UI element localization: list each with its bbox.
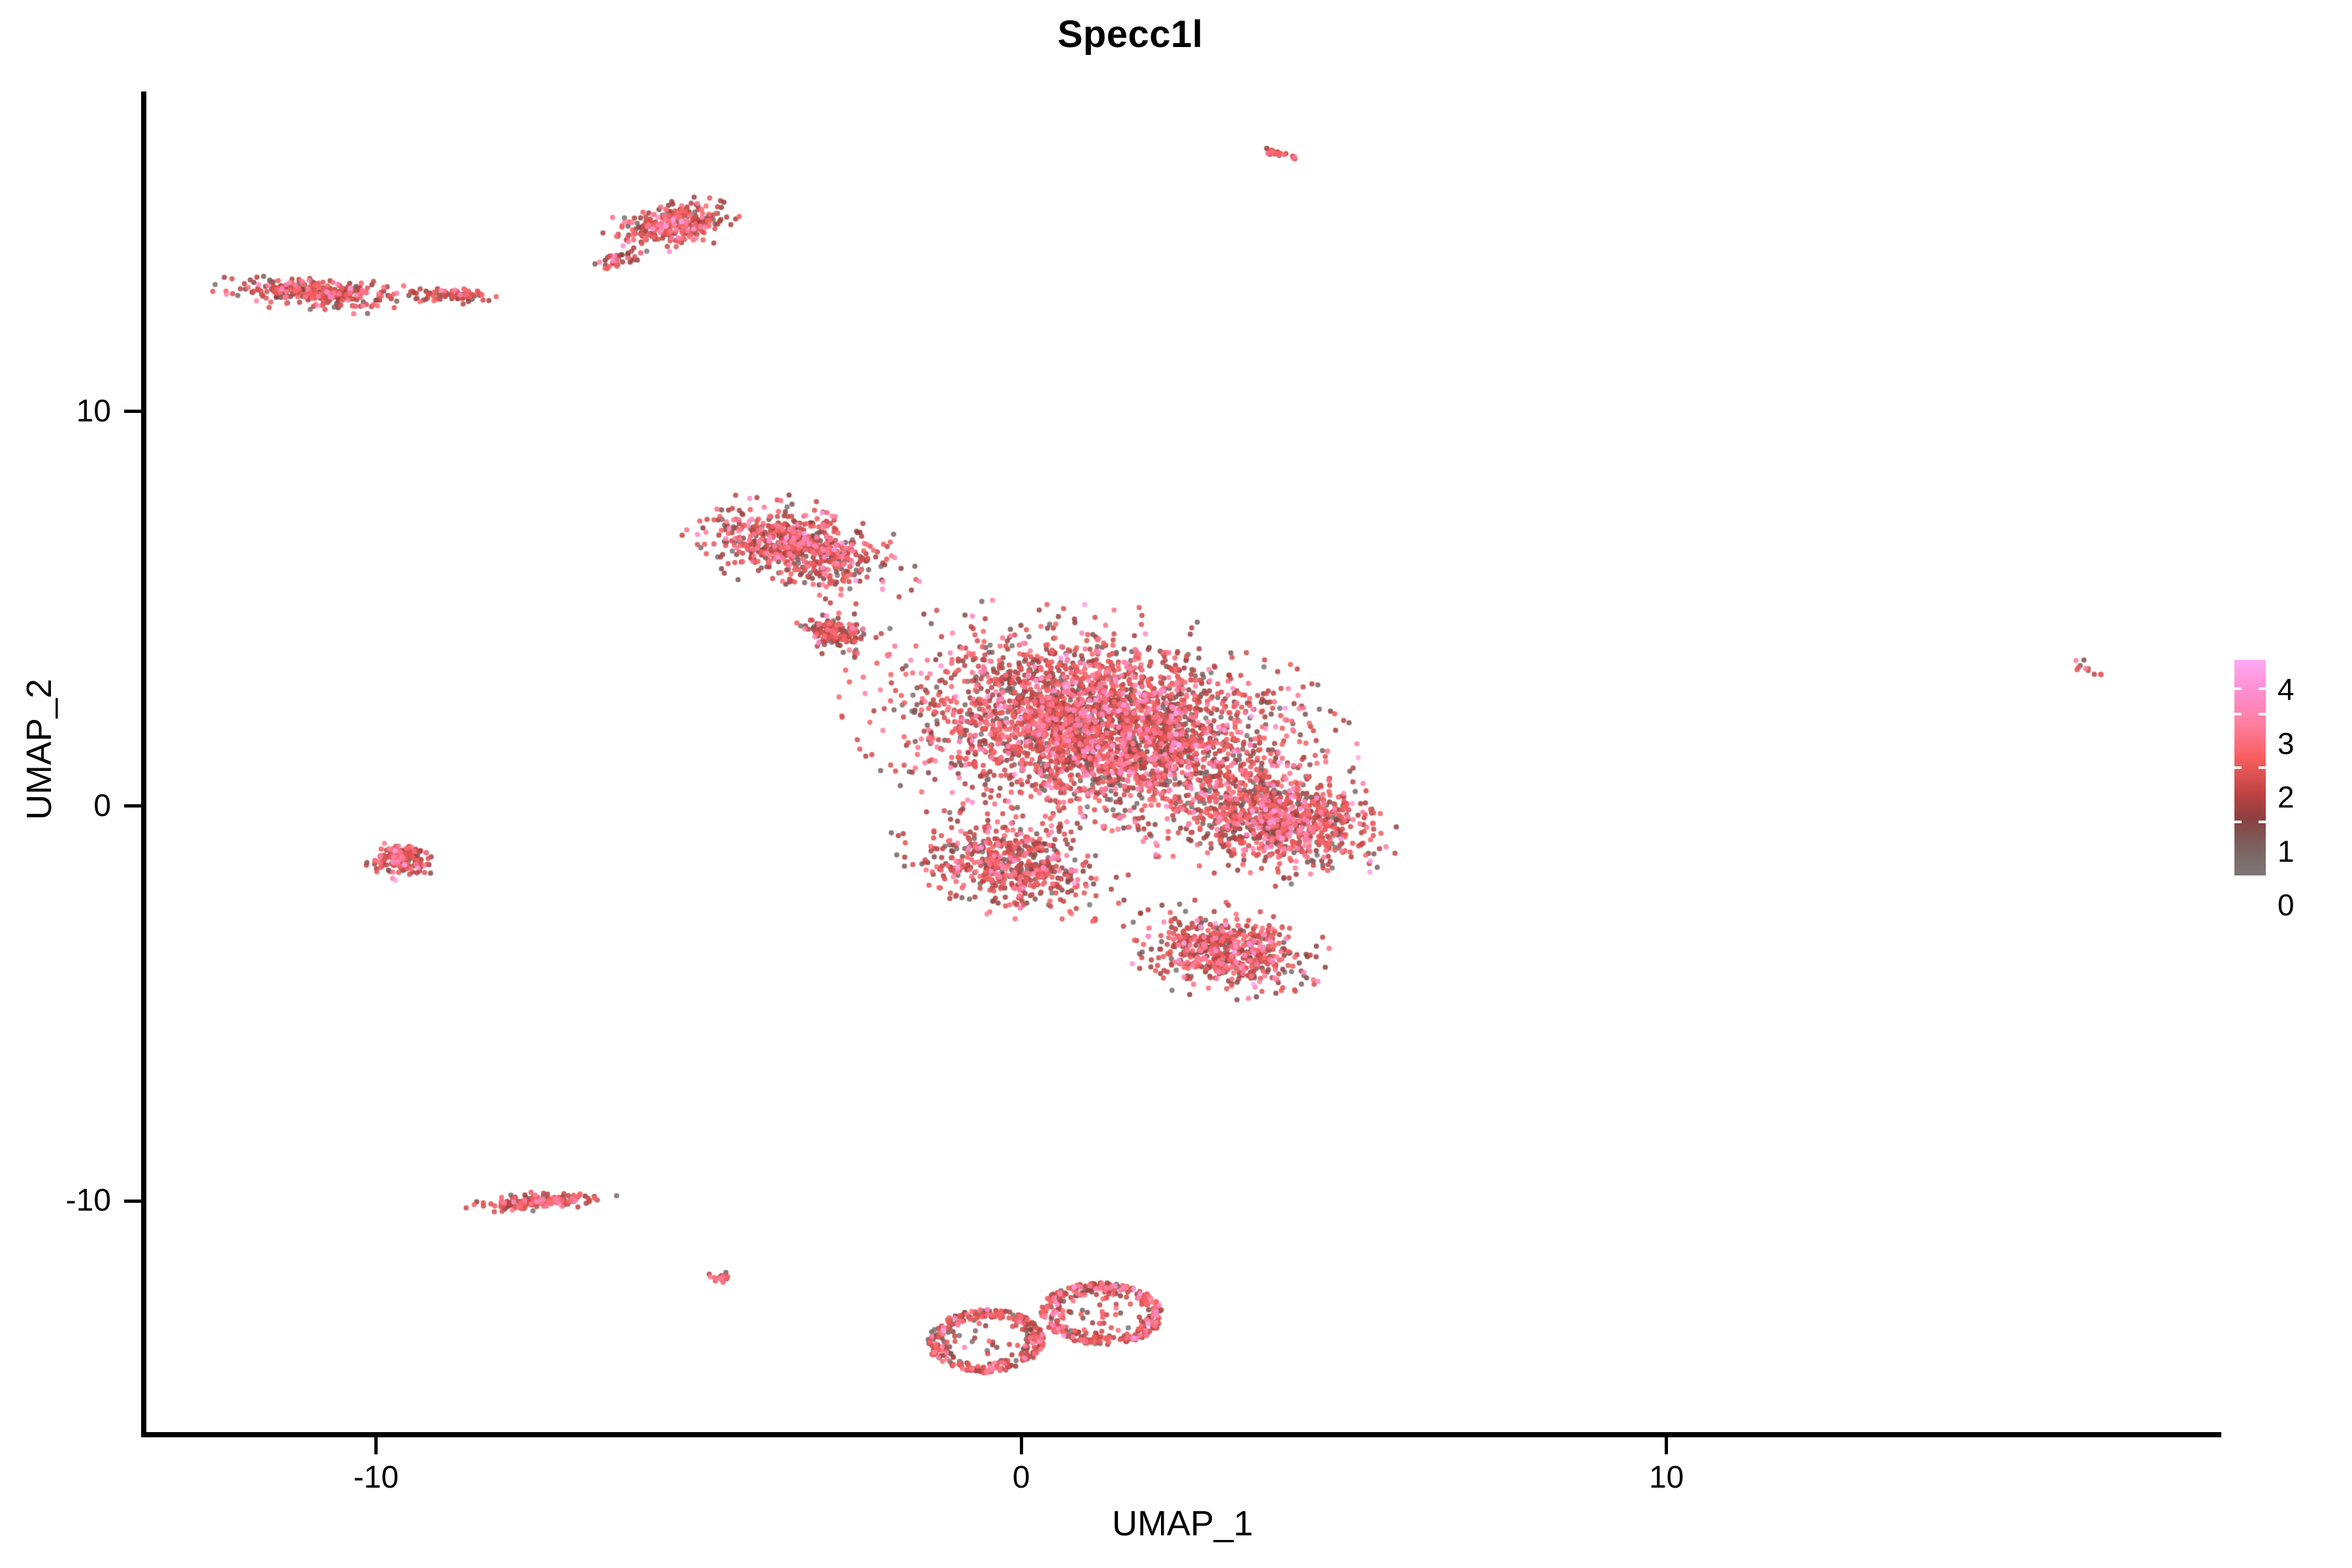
plot-panel: [144, 91, 2221, 1434]
x-tick-mark: [1020, 1437, 1023, 1454]
x-tick-label: 10: [1649, 1462, 1684, 1494]
y-axis-line: [141, 91, 146, 1436]
legend-colorbar: 43210: [2234, 660, 2345, 895]
legend-label: 0: [2278, 890, 2295, 920]
y-tick-label: -10: [66, 1185, 111, 1217]
x-axis-line: [141, 1432, 2221, 1437]
y-tick-mark: [124, 410, 141, 413]
legend-label: 2: [2278, 782, 2295, 812]
y-tick-label: 10: [76, 396, 111, 427]
legend-label: 4: [2278, 674, 2295, 704]
scatter-plot-canvas: [144, 91, 2221, 1434]
legend-tick: [2259, 766, 2266, 769]
x-tick-label: 0: [1013, 1462, 1030, 1494]
y-tick-mark: [124, 1200, 141, 1203]
y-tick-mark: [124, 804, 141, 808]
legend-tick: [2259, 687, 2266, 690]
legend-label: 1: [2278, 836, 2295, 866]
legend-tick: [2259, 713, 2266, 715]
x-tick-mark: [374, 1437, 378, 1454]
legend-tick: [2234, 766, 2242, 769]
page-title: Specc1l: [0, 16, 2261, 54]
x-axis-title: UMAP_1: [144, 1506, 2221, 1541]
legend-label: 3: [2278, 728, 2295, 759]
x-tick-label: -10: [353, 1462, 399, 1494]
legend-tick: [2234, 821, 2242, 823]
y-axis-title: UMAP_2: [22, 742, 57, 820]
legend-tick: [2259, 821, 2266, 823]
x-tick-mark: [1665, 1437, 1668, 1454]
umap-feature-plot: Specc1l UMAP_1 UMAP_2 43210 -10010100-10: [0, 0, 2352, 1568]
y-tick-label: 0: [93, 791, 111, 822]
legend-tick: [2234, 687, 2242, 690]
legend-tick: [2234, 713, 2242, 715]
